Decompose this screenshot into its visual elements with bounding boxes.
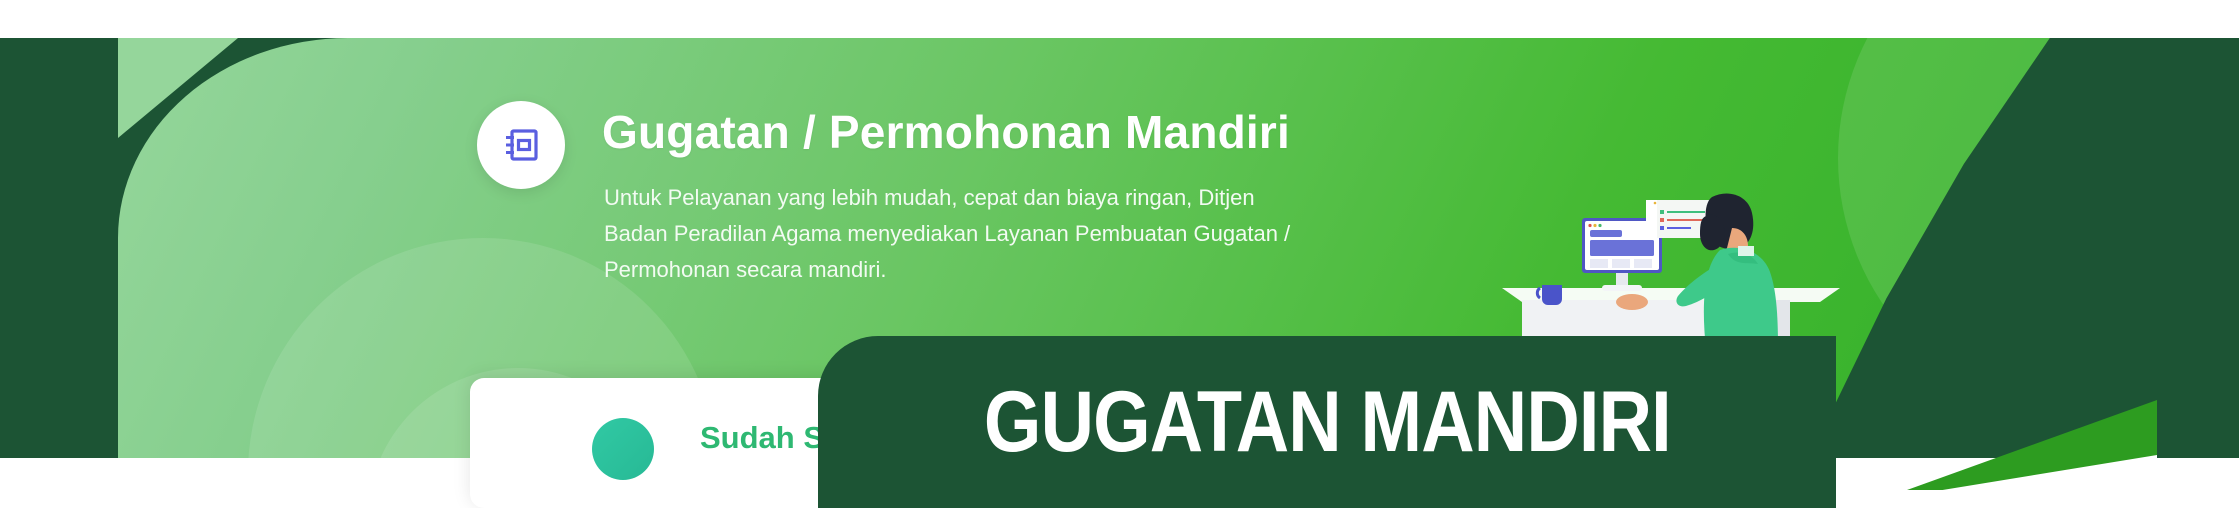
gugatan-mandiri-banner: GUGATAN MANDIRI [818,336,1836,508]
page-title: Gugatan / Permohonan Mandiri [602,105,1290,159]
banner-title: GUGATAN MANDIRI [984,379,1671,465]
card-accent-dot [592,418,654,480]
hero-banner-stage: Gugatan / Permohonan Mandiri Untuk Pelay… [0,0,2239,508]
notebook-icon [477,101,565,189]
page-description: Untuk Pelayanan yang lebih mudah, cepat … [604,180,1324,288]
